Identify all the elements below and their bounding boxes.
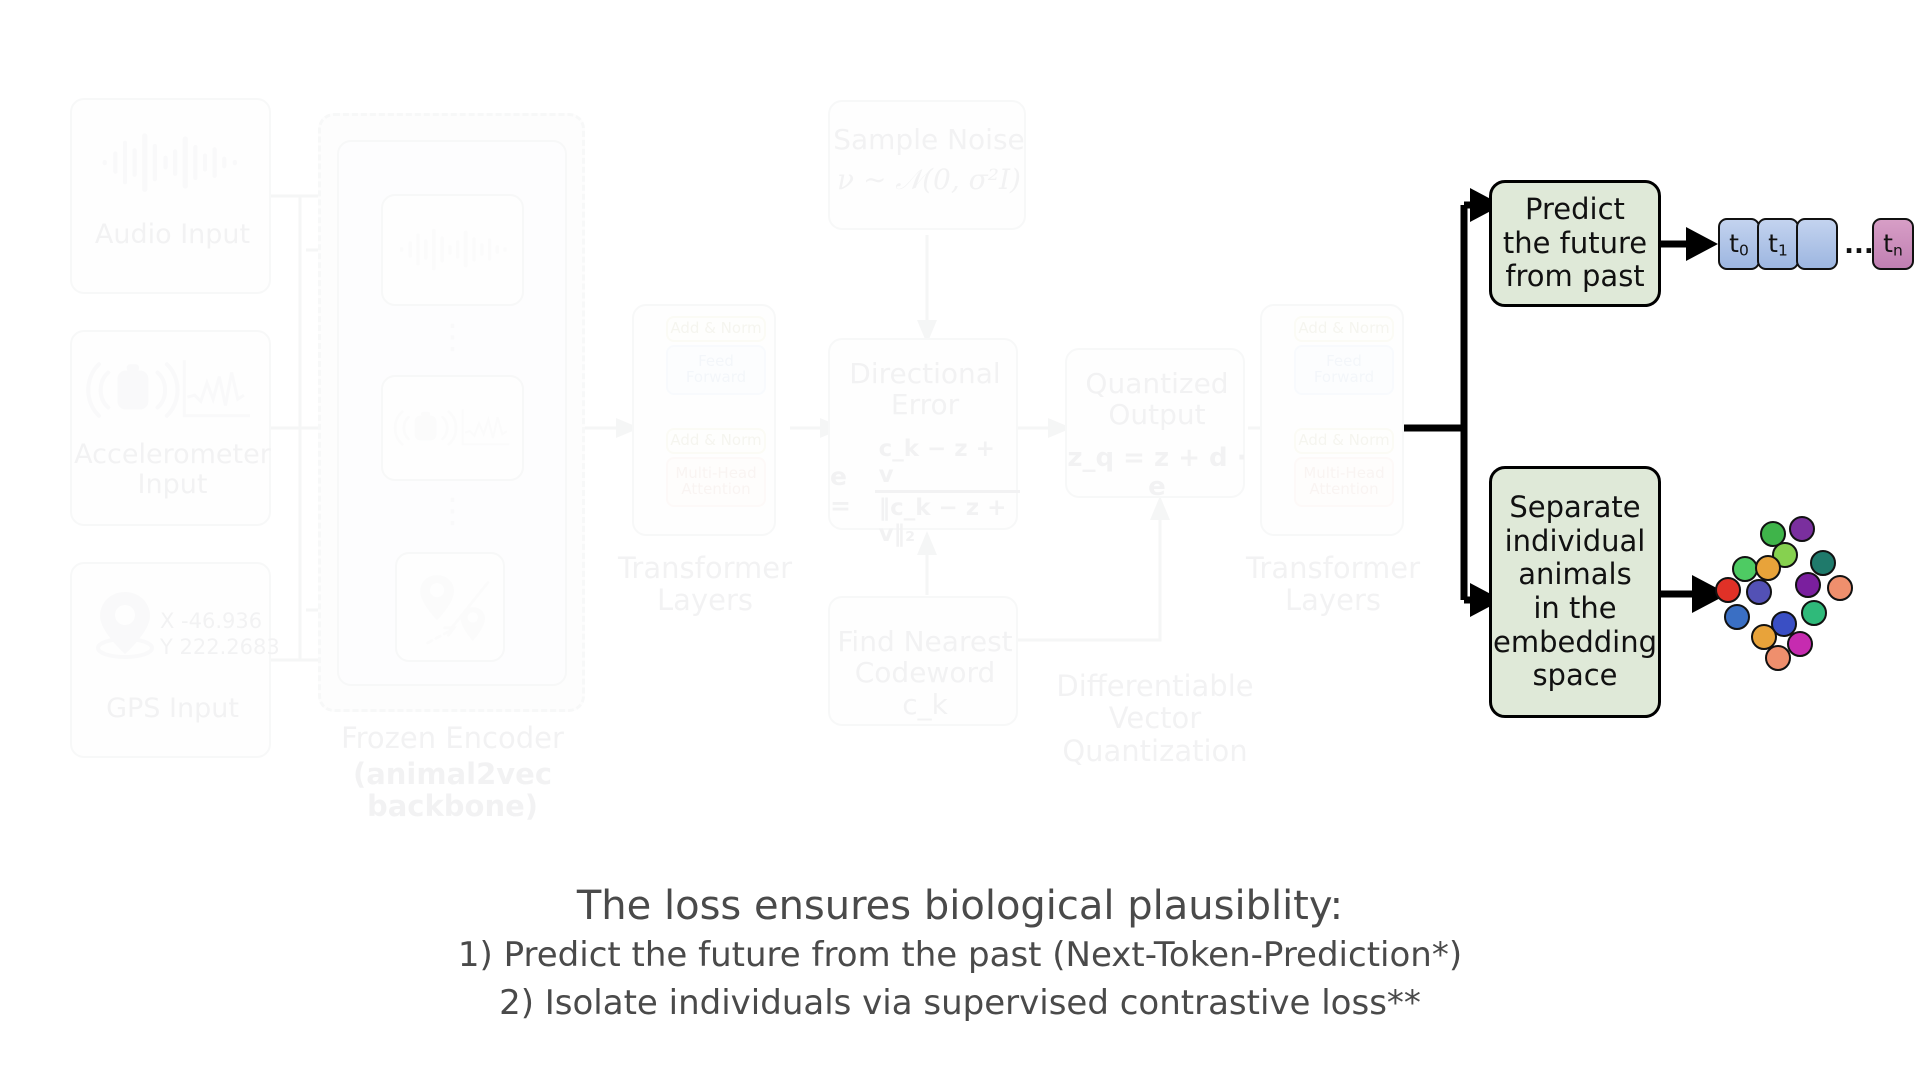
encoder-ellipsis-bottom: ⋮ (381, 492, 524, 530)
embedding-dot (1715, 577, 1741, 603)
gps-track-icon (407, 562, 501, 656)
caption-line-2: 1) Predict the future from the past (Nex… (0, 933, 1920, 978)
accelerometer-icon (84, 354, 262, 426)
input-label-accelerometer: Accelerometer Input (72, 440, 273, 500)
input-label-audio: Audio Input (72, 220, 273, 250)
transformer-right-label: Transformer Layers (1228, 552, 1438, 617)
gps-coordinate-x: X -46.936 (160, 610, 280, 634)
input-box-accelerometer[interactable]: Accelerometer Input (70, 330, 271, 526)
encoder-label-line1: Frozen Encoder (280, 722, 625, 754)
token-chip-2[interactable] (1796, 218, 1838, 270)
embedding-dot (1789, 516, 1815, 542)
multi-head-attention-left: Multi-Head Attention (666, 457, 766, 507)
vector-quantization-label: Differentiable Vector Quantization (1030, 670, 1280, 767)
encoder-tile-audio[interactable] (381, 194, 524, 306)
add-norm-top-right: Add & Norm (1294, 316, 1394, 342)
gps-coordinate-y: Y 222.2683 (160, 636, 300, 660)
input-box-gps[interactable]: X -46.936 Y 222.2683 GPS Input (70, 562, 271, 758)
quantized-output-box[interactable]: Quantized Output z_q = z + d · e (1065, 348, 1245, 498)
token-chip-1[interactable]: t1 (1757, 218, 1799, 270)
error-denominator: ‖c_k − z + v‖₂ (875, 493, 1020, 547)
embedding-dot (1801, 600, 1827, 626)
encoder-tile-accelerometer[interactable] (381, 375, 524, 481)
add-norm-top-left: Add & Norm (666, 316, 766, 342)
token-label-0: t0 (1729, 229, 1749, 259)
encoder-tile-gps[interactable] (395, 552, 505, 662)
encoder-label-line2: (animal2vec backbone) (280, 758, 625, 823)
token-ellipsis: ... (1843, 230, 1875, 260)
feed-forward-right: Feed Forward (1294, 345, 1394, 395)
error-numerator: c_k − z + v (875, 436, 1020, 490)
sample-noise-box[interactable]: Sample Noise ν ∼ 𝒩(0, σ²I) (828, 100, 1026, 230)
quantized-output-title: Quantized Output (1067, 368, 1247, 431)
waveform-icon (98, 130, 248, 194)
directional-error-formula: e = c_k − z + v ‖c_k − z + v‖₂ (830, 436, 1020, 547)
sample-noise-title: Sample Noise (830, 124, 1028, 155)
transformer-left-label: Transformer Layers (600, 552, 810, 617)
token-label-n: tn (1883, 229, 1903, 259)
embedding-dot (1810, 550, 1836, 576)
accelerometer-icon (393, 399, 517, 457)
embedding-dot (1827, 575, 1853, 601)
token-chip-0[interactable]: t0 (1718, 218, 1760, 270)
input-box-audio[interactable]: Audio Input (70, 98, 271, 294)
output-box-separate[interactable]: Separate individual animals in the embed… (1489, 466, 1661, 718)
waveform-icon (397, 224, 513, 274)
embedding-dot (1755, 555, 1781, 581)
token-chip-n[interactable]: tn (1872, 218, 1914, 270)
embedding-dot (1787, 631, 1813, 657)
map-pin-icon (90, 586, 160, 666)
feed-forward-left: Feed Forward (666, 345, 766, 395)
output-box-predict[interactable]: Predict the future from past (1489, 180, 1661, 307)
input-label-gps: GPS Input (72, 694, 273, 724)
diagram-canvas: Audio Input Accelerometer I (0, 0, 1920, 1080)
embedding-dot (1724, 604, 1750, 630)
embedding-dot (1795, 572, 1821, 598)
encoder-ellipsis-top: ⋮ (381, 318, 524, 356)
directional-error-box[interactable]: Directional Error e = c_k − z + v ‖c_k −… (828, 338, 1018, 530)
caption-line-3: 2) Isolate individuals via supervised co… (0, 981, 1920, 1026)
token-label-1: t1 (1768, 229, 1788, 259)
caption-line-1: The loss ensures biological plausiblity: (0, 880, 1920, 933)
sample-noise-formula: ν ∼ 𝒩(0, σ²I) (830, 164, 1028, 195)
multi-head-attention-right: Multi-Head Attention (1294, 457, 1394, 507)
find-codeword-title: Find Nearest Codeword c_k (830, 626, 1020, 720)
directional-error-title: Directional Error (830, 358, 1020, 421)
add-norm-bottom-left: Add & Norm (666, 428, 766, 454)
error-lhs: e = (830, 462, 868, 520)
quantized-output-formula: z_q = z + d · e (1067, 444, 1247, 502)
embedding-dot (1746, 579, 1772, 605)
embedding-dot (1765, 645, 1791, 671)
add-norm-bottom-right: Add & Norm (1294, 428, 1394, 454)
find-nearest-codeword-box[interactable]: Find Nearest Codeword c_k (828, 596, 1018, 726)
